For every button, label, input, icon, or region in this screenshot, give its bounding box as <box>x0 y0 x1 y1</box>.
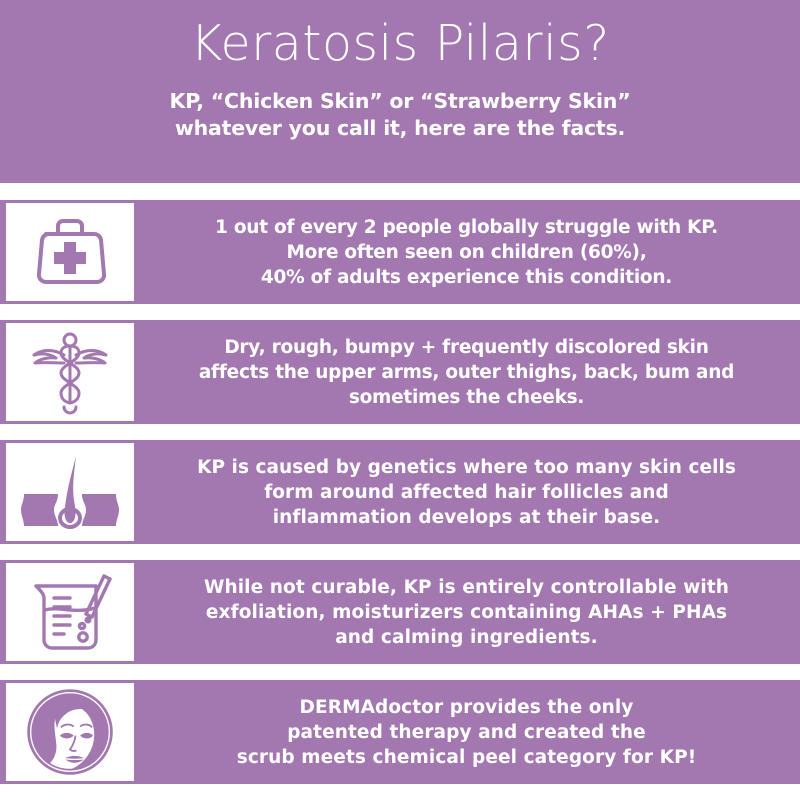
fact-row: 1 out of every 2 people globally struggl… <box>0 200 800 304</box>
page-title: Keratosis Pilaris? <box>190 14 609 74</box>
subtitle-line-1: KP, “Chicken Skin” or “Strawberry Skin” <box>170 88 631 115</box>
fact-row: KP is caused by genetics where too many … <box>0 440 800 544</box>
fact-line: scrub meets chemical peel category for K… <box>237 745 697 770</box>
fact-rows: 1 out of every 2 people globally struggl… <box>0 200 800 784</box>
fact-text: While not curable, KP is entirely contro… <box>137 560 800 664</box>
medical-bag-icon <box>20 212 120 292</box>
fact-text: KP is caused by genetics where too many … <box>137 440 800 544</box>
fact-line: form around affected hair follicles and <box>264 480 669 505</box>
fact-line: exfoliation, moisturizers containing AHA… <box>206 600 727 625</box>
header-banner: Keratosis Pilaris? KP, “Chicken Skin” or… <box>0 0 800 183</box>
fact-line: 40% of adults experience this condition. <box>261 265 672 290</box>
fact-row: While not curable, KP is entirely contro… <box>0 560 800 664</box>
caduceus-icon <box>20 329 120 415</box>
beaker-icon <box>24 570 116 654</box>
icon-box <box>3 200 137 304</box>
header-subtitle: KP, “Chicken Skin” or “Strawberry Skin” … <box>170 88 631 142</box>
fact-line: KP is caused by genetics where too many … <box>197 455 736 480</box>
icon-box <box>3 680 137 784</box>
fact-line: and calming ingredients. <box>335 625 598 650</box>
fact-line: Dry, rough, bumpy + frequently discolore… <box>224 335 708 360</box>
icon-box <box>3 320 137 424</box>
fact-line: inflammation develops at their base. <box>273 505 660 530</box>
fact-row: DERMAdoctor provides the only patented t… <box>0 680 800 784</box>
fact-text: Dry, rough, bumpy + frequently discolore… <box>137 320 800 424</box>
subtitle-line-2: whatever you call it, here are the facts… <box>170 115 631 142</box>
fact-line: More often seen on children (60%), <box>286 240 646 265</box>
icon-box <box>3 440 137 544</box>
fact-line: patented therapy and created the <box>287 720 646 745</box>
fact-row: Dry, rough, bumpy + frequently discolore… <box>0 320 800 424</box>
fact-text: DERMAdoctor provides the only patented t… <box>137 680 800 784</box>
fact-line: DERMAdoctor provides the only <box>300 695 634 720</box>
fact-line: While not curable, KP is entirely contro… <box>204 575 729 600</box>
keratosis-pilaris-infographic: Keratosis Pilaris? KP, “Chicken Skin” or… <box>0 0 800 800</box>
fact-text: 1 out of every 2 people globally struggl… <box>137 200 800 304</box>
fact-line: sometimes the cheeks. <box>349 385 584 410</box>
icon-box <box>3 560 137 664</box>
dermadoctor-face-logo-icon <box>24 686 116 778</box>
fact-line: 1 out of every 2 people globally struggl… <box>215 215 718 240</box>
hair-follicle-icon <box>18 450 122 534</box>
fact-line: affects the upper arms, outer thighs, ba… <box>199 360 734 385</box>
